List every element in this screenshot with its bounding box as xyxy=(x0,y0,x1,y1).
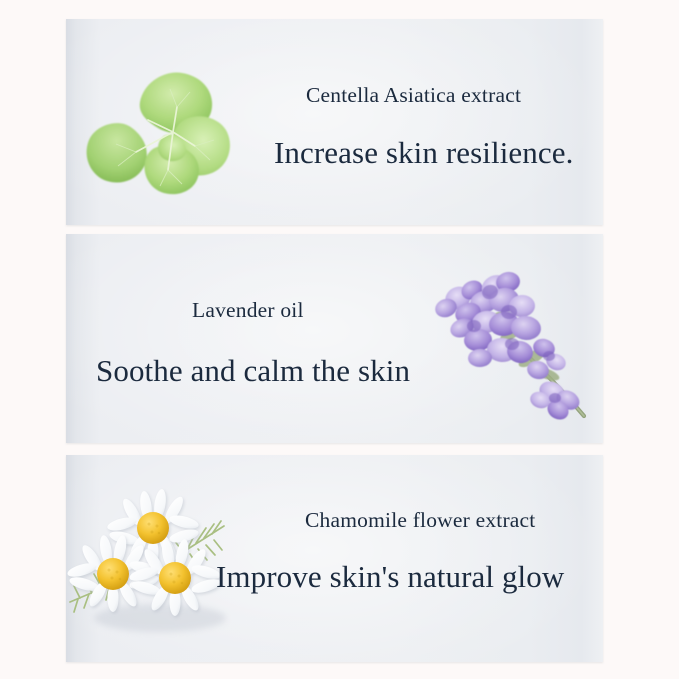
ingredient-headline-chamomile: Improve skin's natural glow xyxy=(216,561,564,594)
ingredient-panel-centella xyxy=(66,19,603,225)
ingredient-subtitle-centella: Centella Asiatica extract xyxy=(306,84,521,107)
ingredient-benefits-banner: Centella Asiatica extract Increase skin … xyxy=(0,0,679,679)
ingredient-headline-lavender: Soothe and calm the skin xyxy=(96,355,410,388)
ingredient-subtitle-lavender: Lavender oil xyxy=(192,299,304,322)
ingredient-headline-centella: Increase skin resilience. xyxy=(274,137,573,170)
ingredient-panel-lavender xyxy=(66,234,603,443)
ingredient-subtitle-chamomile: Chamomile flower extract xyxy=(305,509,535,532)
